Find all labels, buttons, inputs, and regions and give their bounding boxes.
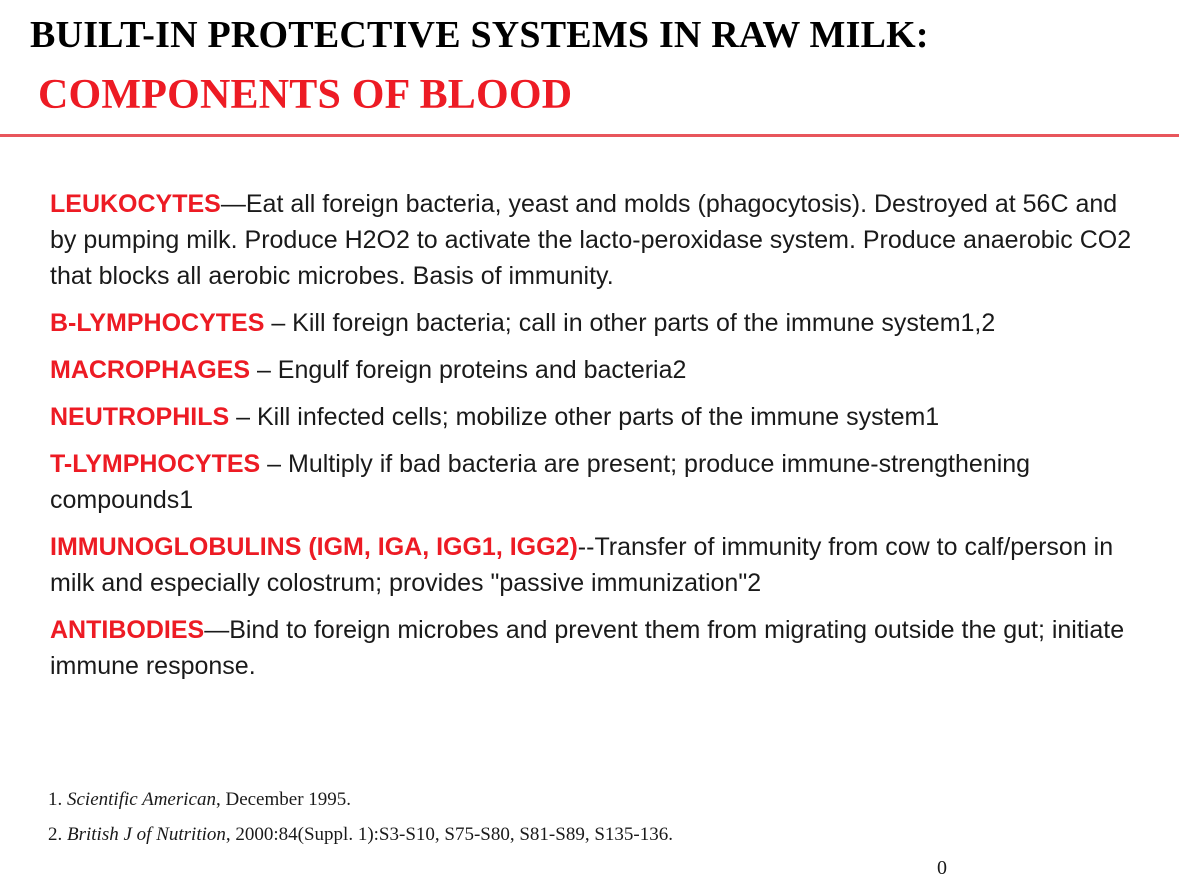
footnote-journal-title: Scientific American xyxy=(67,789,216,810)
slide-title-primary: BUILT-IN PROTECTIVE SYSTEMS IN RAW MILK: xyxy=(30,16,929,54)
bullet-paragraph-macrophages: MACROPHAGES – Engulf foreign proteins an… xyxy=(50,352,1148,388)
bullet-paragraph-antibodies: ANTIBODIES—Bind to foreign microbes and … xyxy=(50,612,1148,684)
term-label-antibodies: ANTIBODIES xyxy=(50,616,204,644)
term-label-leukocytes: LEUKOCYTES xyxy=(50,190,221,218)
slide-body: LEUKOCYTES—Eat all foreign bacteria, yea… xyxy=(50,186,1148,684)
footnote-journal-title: British J of Nutrition xyxy=(67,824,226,845)
footnote-detail: , December 1995. xyxy=(216,789,351,810)
term-label-macrophages: MACROPHAGES xyxy=(50,356,250,384)
footnote-number: 2. xyxy=(48,824,67,845)
slide-title-secondary: COMPONENTS OF BLOOD xyxy=(38,74,572,116)
term-label-immunoglobulins: IMMUNOGLOBULINS (IGM, IGA, IGG1, IGG2) xyxy=(50,533,578,561)
term-description-macrophages: – Engulf foreign proteins and bacteria2 xyxy=(250,356,686,384)
page-number: 0 xyxy=(930,857,954,880)
term-description-neutrophils: – Kill infected cells; mobilize other pa… xyxy=(229,403,939,431)
bullet-paragraph-b-lymphocytes: B-LYMPHOCYTES – Kill foreign bacteria; c… xyxy=(50,305,1148,341)
footnote-list: 1. Scientific American, December 1995. 2… xyxy=(48,782,1048,852)
bullet-paragraph-neutrophils: NEUTROPHILS – Kill infected cells; mobil… xyxy=(50,399,1148,435)
bullet-paragraph-t-lymphocytes: T-LYMPHOCYTES – Multiply if bad bacteria… xyxy=(50,446,1148,518)
term-description-b-lymphocytes: – Kill foreign bacteria; call in other p… xyxy=(264,309,995,337)
bullet-paragraph-leukocytes: LEUKOCYTES—Eat all foreign bacteria, yea… xyxy=(50,186,1148,294)
footnote-item: 2. British J of Nutrition, 2000:84(Suppl… xyxy=(48,817,1048,852)
slide-canvas: { "colors": { "accent_red": "#ED1B24", "… xyxy=(0,0,1179,880)
term-label-t-lymphocytes: T-LYMPHOCYTES xyxy=(50,450,260,478)
title-divider xyxy=(0,134,1179,137)
footnote-item: 1. Scientific American, December 1995. xyxy=(48,782,1048,817)
bullet-paragraph-immunoglobulins: IMMUNOGLOBULINS (IGM, IGA, IGG1, IGG2)--… xyxy=(50,529,1148,601)
term-label-neutrophils: NEUTROPHILS xyxy=(50,403,229,431)
footnote-detail: , 2000:84(Suppl. 1):S3-S10, S75-S80, S81… xyxy=(226,824,673,845)
term-label-b-lymphocytes: B-LYMPHOCYTES xyxy=(50,309,264,337)
term-description-antibodies: —Bind to foreign microbes and prevent th… xyxy=(50,616,1124,680)
footnote-number: 1. xyxy=(48,789,67,810)
